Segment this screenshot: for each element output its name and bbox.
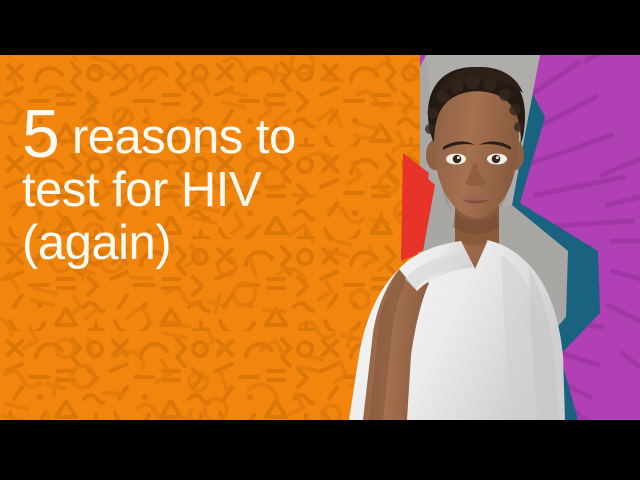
letterbox-bar-bottom xyxy=(0,420,640,480)
letterbox-bar-top xyxy=(0,0,640,55)
young-man-portrait xyxy=(315,55,595,420)
headline-line-1-text: reasons to xyxy=(59,110,296,164)
headline-line-1: 5 reasons to xyxy=(22,100,296,162)
headline-line-2: test for HIV xyxy=(22,166,296,215)
headline-line-3: (again) xyxy=(22,219,296,268)
headline-number: 5 xyxy=(22,96,59,172)
headline: 5 reasons to test for HIV (again) xyxy=(22,100,296,268)
video-thumbnail: 5 reasons to test for HIV (again) xyxy=(0,0,640,480)
